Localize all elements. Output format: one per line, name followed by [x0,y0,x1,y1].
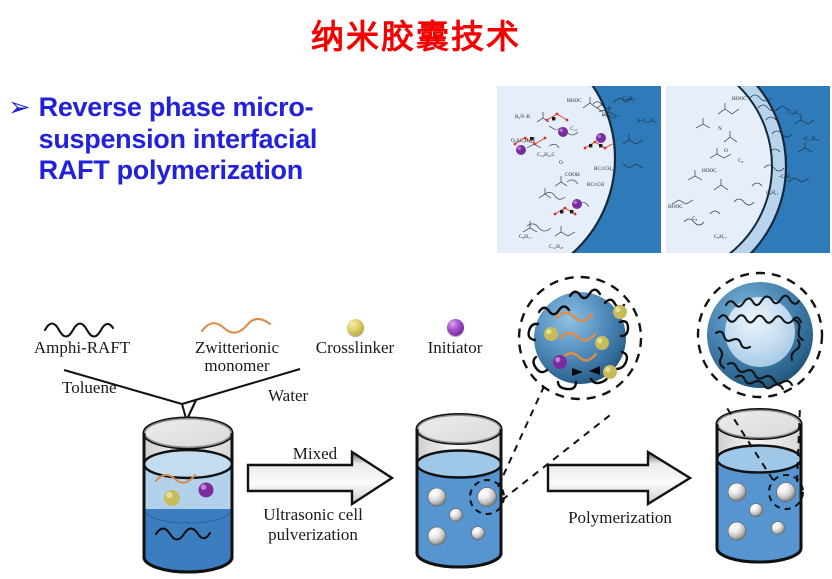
polymerization-arrow [548,452,690,504]
yellow-sphere-in-beaker [164,490,180,506]
slide-root: 纳米胶囊技术 ➢ Reverse phase micro- suspension… [0,0,832,579]
beaker-emulsion [417,415,504,568]
capsule-core [725,297,795,367]
process-schematic-svg [0,0,832,579]
process-schematic [0,0,832,579]
beaker-capsules [717,410,803,563]
micelle-initiator [553,355,567,369]
mix-arrow [248,452,392,504]
purple-sphere-in-beaker [199,483,214,498]
beaker-biphasic [144,418,232,572]
micelle-zoom [519,277,641,399]
nanocapsule-zoom [698,273,822,397]
